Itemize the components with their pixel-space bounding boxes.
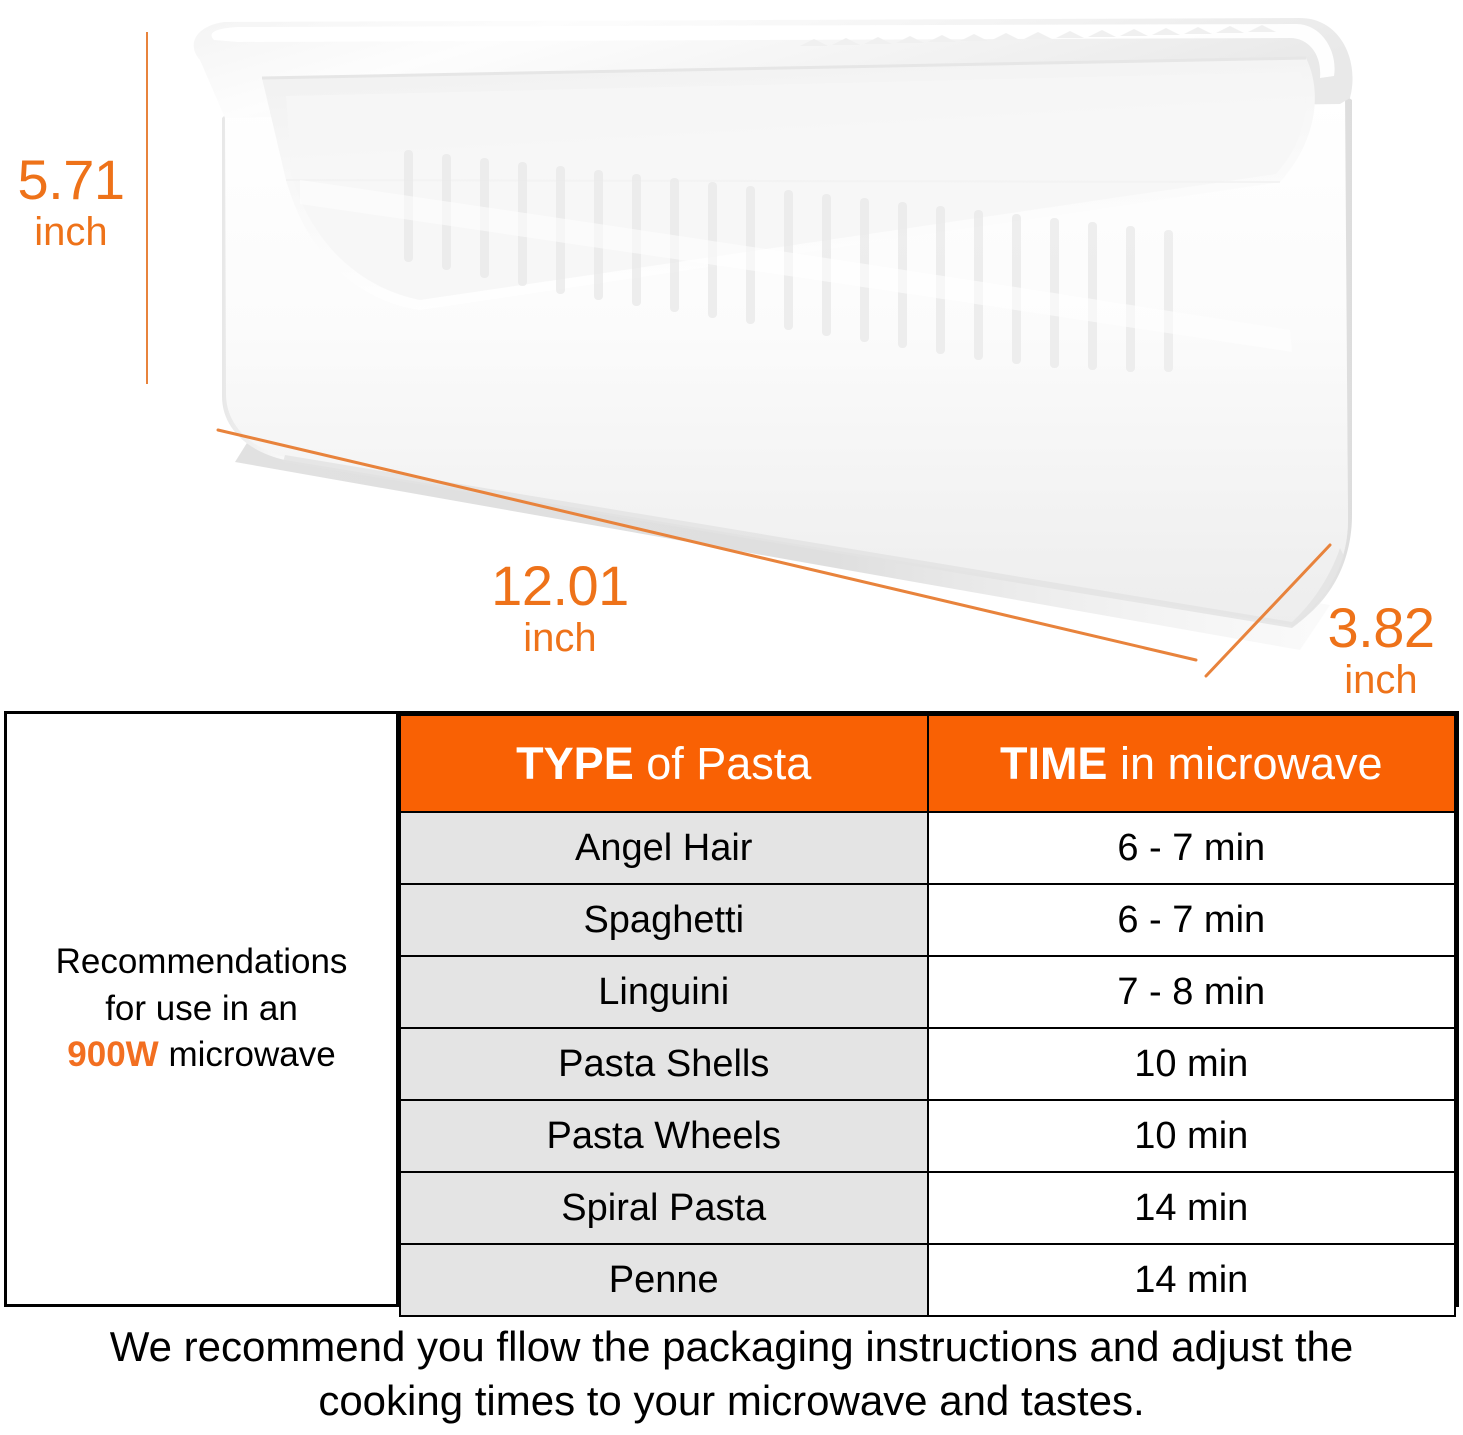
product-infographic: 5.71 inch 12.01 inch 3.82 inch Recommend… [0, 0, 1463, 1435]
height-dimension-line [146, 32, 148, 384]
table-row: Pasta Shells 10 min [400, 1028, 1455, 1100]
pasta-cooking-table: TYPE of Pasta TIME in microwave Angel Ha… [399, 714, 1456, 1317]
column-header-type: TYPE of Pasta [400, 715, 928, 812]
pasta-time-cell: 7 - 8 min [928, 956, 1456, 1028]
cooking-time-info-block: Recommendations for use in an 900W micro… [4, 711, 1459, 1307]
pasta-type-cell: Pasta Shells [400, 1028, 928, 1100]
height-value: 5.71 [8, 152, 134, 208]
pasta-time-cell: 14 min [928, 1172, 1456, 1244]
recommendation-text: Recommendations for use in an 900W micro… [46, 939, 358, 1080]
pasta-type-cell: Linguini [400, 956, 928, 1028]
pasta-time-cell: 14 min [928, 1244, 1456, 1316]
pasta-time-cell: 6 - 7 min [928, 884, 1456, 956]
recommendation-line-3-suffix: microwave [159, 1035, 336, 1074]
pasta-type-cell: Pasta Wheels [400, 1100, 928, 1172]
depth-unit: inch [1306, 660, 1456, 700]
width-value: 12.01 [455, 558, 665, 614]
recommendation-panel: Recommendations for use in an 900W micro… [7, 714, 399, 1304]
height-dimension-label: 5.71 inch [8, 152, 134, 252]
column-header-time: TIME in microwave [928, 715, 1456, 812]
pasta-type-cell: Angel Hair [400, 812, 928, 884]
table-row: Penne 14 min [400, 1244, 1455, 1316]
table-row: Spiral Pasta 14 min [400, 1172, 1455, 1244]
recommendation-line-2: for use in an [105, 989, 298, 1028]
table-row: Spaghetti 6 - 7 min [400, 884, 1455, 956]
width-unit: inch [455, 618, 665, 658]
column-header-time-strong: TIME [1000, 738, 1108, 789]
wattage-value: 900W [67, 1035, 158, 1074]
column-header-type-strong: TYPE [516, 738, 634, 789]
footer-line-1: We recommend you fllow the packaging ins… [110, 1323, 1354, 1370]
table-row: Pasta Wheels 10 min [400, 1100, 1455, 1172]
product-image [0, 0, 1463, 710]
table-row: Linguini 7 - 8 min [400, 956, 1455, 1028]
height-unit: inch [8, 212, 134, 252]
recommendation-line-1: Recommendations [56, 942, 348, 981]
depth-dimension-label: 3.82 inch [1306, 600, 1456, 700]
table-header: TYPE of Pasta TIME in microwave [400, 715, 1455, 812]
table-body: Angel Hair 6 - 7 min Spaghetti 6 - 7 min… [400, 812, 1455, 1316]
pasta-time-cell: 6 - 7 min [928, 812, 1456, 884]
footer-line-2: cooking times to your microwave and tast… [318, 1377, 1144, 1424]
pasta-time-cell: 10 min [928, 1100, 1456, 1172]
table-row: Angel Hair 6 - 7 min [400, 812, 1455, 884]
pasta-type-cell: Spiral Pasta [400, 1172, 928, 1244]
pasta-type-cell: Spaghetti [400, 884, 928, 956]
footer-disclaimer: We recommend you fllow the packaging ins… [0, 1320, 1463, 1428]
pasta-time-cell: 10 min [928, 1028, 1456, 1100]
column-header-time-rest: in microwave [1107, 738, 1382, 789]
width-dimension-label: 12.01 inch [455, 558, 665, 658]
depth-value: 3.82 [1306, 600, 1456, 656]
pasta-type-cell: Penne [400, 1244, 928, 1316]
table-header-row: TYPE of Pasta TIME in microwave [400, 715, 1455, 812]
column-header-type-rest: of Pasta [634, 738, 812, 789]
